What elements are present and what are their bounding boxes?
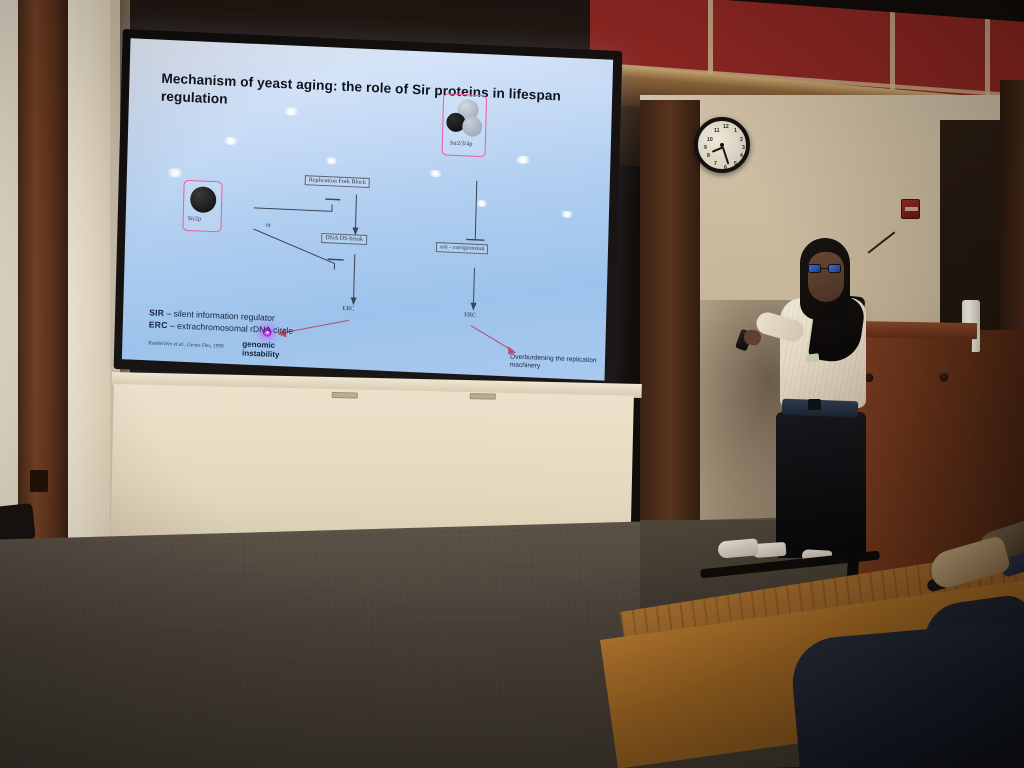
board-clip-icon: [470, 393, 496, 400]
clock-numeral: 1: [734, 128, 737, 134]
legend-dash: –: [170, 320, 175, 330]
eyeglasses-icon: [808, 264, 841, 273]
clock-numeral: 9: [704, 145, 707, 151]
clock-center-pin: [720, 143, 724, 147]
clock-numeral: 11: [714, 128, 719, 134]
genomic-instability-label: genomic instability: [242, 340, 312, 362]
slide-surface: Mechanism of yeast aging: the role of Si…: [122, 38, 613, 380]
sir234p-label: Sir2/3/4p: [450, 141, 473, 148]
podium-knob-icon: [939, 373, 948, 382]
clock-numeral: 7: [714, 161, 717, 167]
name-badge: [806, 353, 820, 363]
presenter: [760, 238, 890, 568]
clock-numeral: 8: [707, 153, 710, 159]
left-chair-armrest: [0, 503, 36, 543]
clock-numeral: 4: [740, 153, 743, 159]
legend-abbr-sir: SIR: [149, 307, 164, 318]
wall-clock: 12 1 2 3 4 5 6 7 8 9 10 11: [694, 117, 750, 173]
clock-numeral: 10: [707, 137, 713, 143]
clock-minute-hand: [722, 147, 729, 165]
door-latch-icon: [30, 470, 48, 492]
sir2p-node: Sir2p: [182, 180, 222, 233]
projection-screen: Mechanism of yeast aging: the role of Si…: [114, 29, 623, 391]
clock-numeral: 12: [723, 124, 729, 130]
presenter-face: [808, 252, 844, 302]
right-wood-column: [640, 100, 700, 570]
sir2p-label: Sir2p: [188, 216, 201, 223]
sir234p-node: Sir2/3/4p: [442, 93, 488, 157]
legend-dash: –: [166, 308, 171, 318]
fire-alarm-icon: [901, 199, 920, 219]
legend-abbr-erc: ERC: [149, 319, 168, 330]
dna-ds-break-node: DNA DS-break: [321, 233, 367, 245]
belt-buckle-icon: [808, 399, 821, 410]
clock-numeral: 6: [724, 165, 727, 171]
audience-lap: [789, 619, 1024, 768]
clock-numeral: 2: [740, 137, 743, 143]
sir234p-circle-icon: [462, 116, 483, 137]
erc-left-label: ERC: [342, 305, 354, 313]
lecture-hall-scene: 12 1 2 3 4 5 6 7 8 9 10 11 M: [0, 0, 1024, 768]
clock-numeral: 3: [742, 145, 745, 151]
board-clip-icon: [332, 392, 358, 399]
clock-numeral: 5: [734, 161, 737, 167]
or-label: or: [265, 221, 270, 228]
background-white-shoe: [717, 538, 758, 558]
left-narrow-wall-panel: [68, 0, 110, 620]
sir2p-circle-icon: [190, 186, 217, 213]
erc-right-label: ERC: [464, 311, 476, 319]
